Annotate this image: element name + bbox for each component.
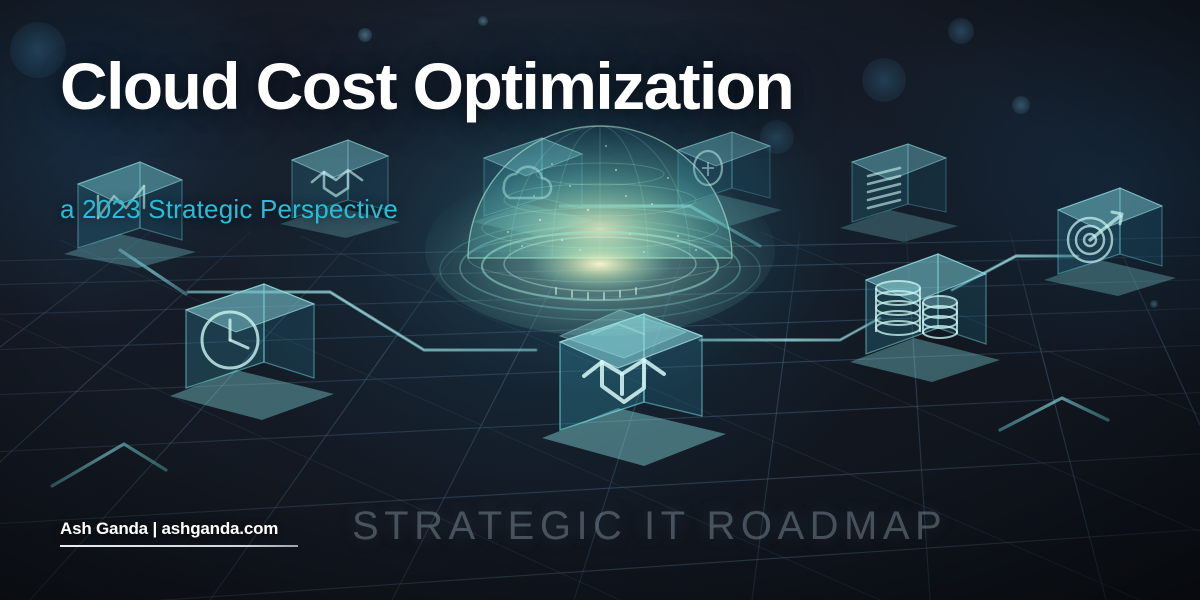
node-server <box>838 132 960 244</box>
watermark-text: STRATEGIC IT ROADMAP <box>352 504 947 549</box>
byline-underline <box>60 545 298 547</box>
page-subtitle: a 2023 Strategic Perspective <box>60 194 398 225</box>
byline: Ash Ganda | ashganda.com <box>60 519 298 547</box>
hero-banner: STRATEGIC IT ROADMAP Cloud Cost Optimiza… <box>0 0 1200 600</box>
node-coins <box>848 236 1004 386</box>
central-dome <box>420 100 780 340</box>
node-clock <box>168 268 338 424</box>
byline-text: Ash Ganda | ashganda.com <box>60 519 298 539</box>
page-title: Cloud Cost Optimization <box>60 52 793 122</box>
node-target <box>1042 172 1178 300</box>
